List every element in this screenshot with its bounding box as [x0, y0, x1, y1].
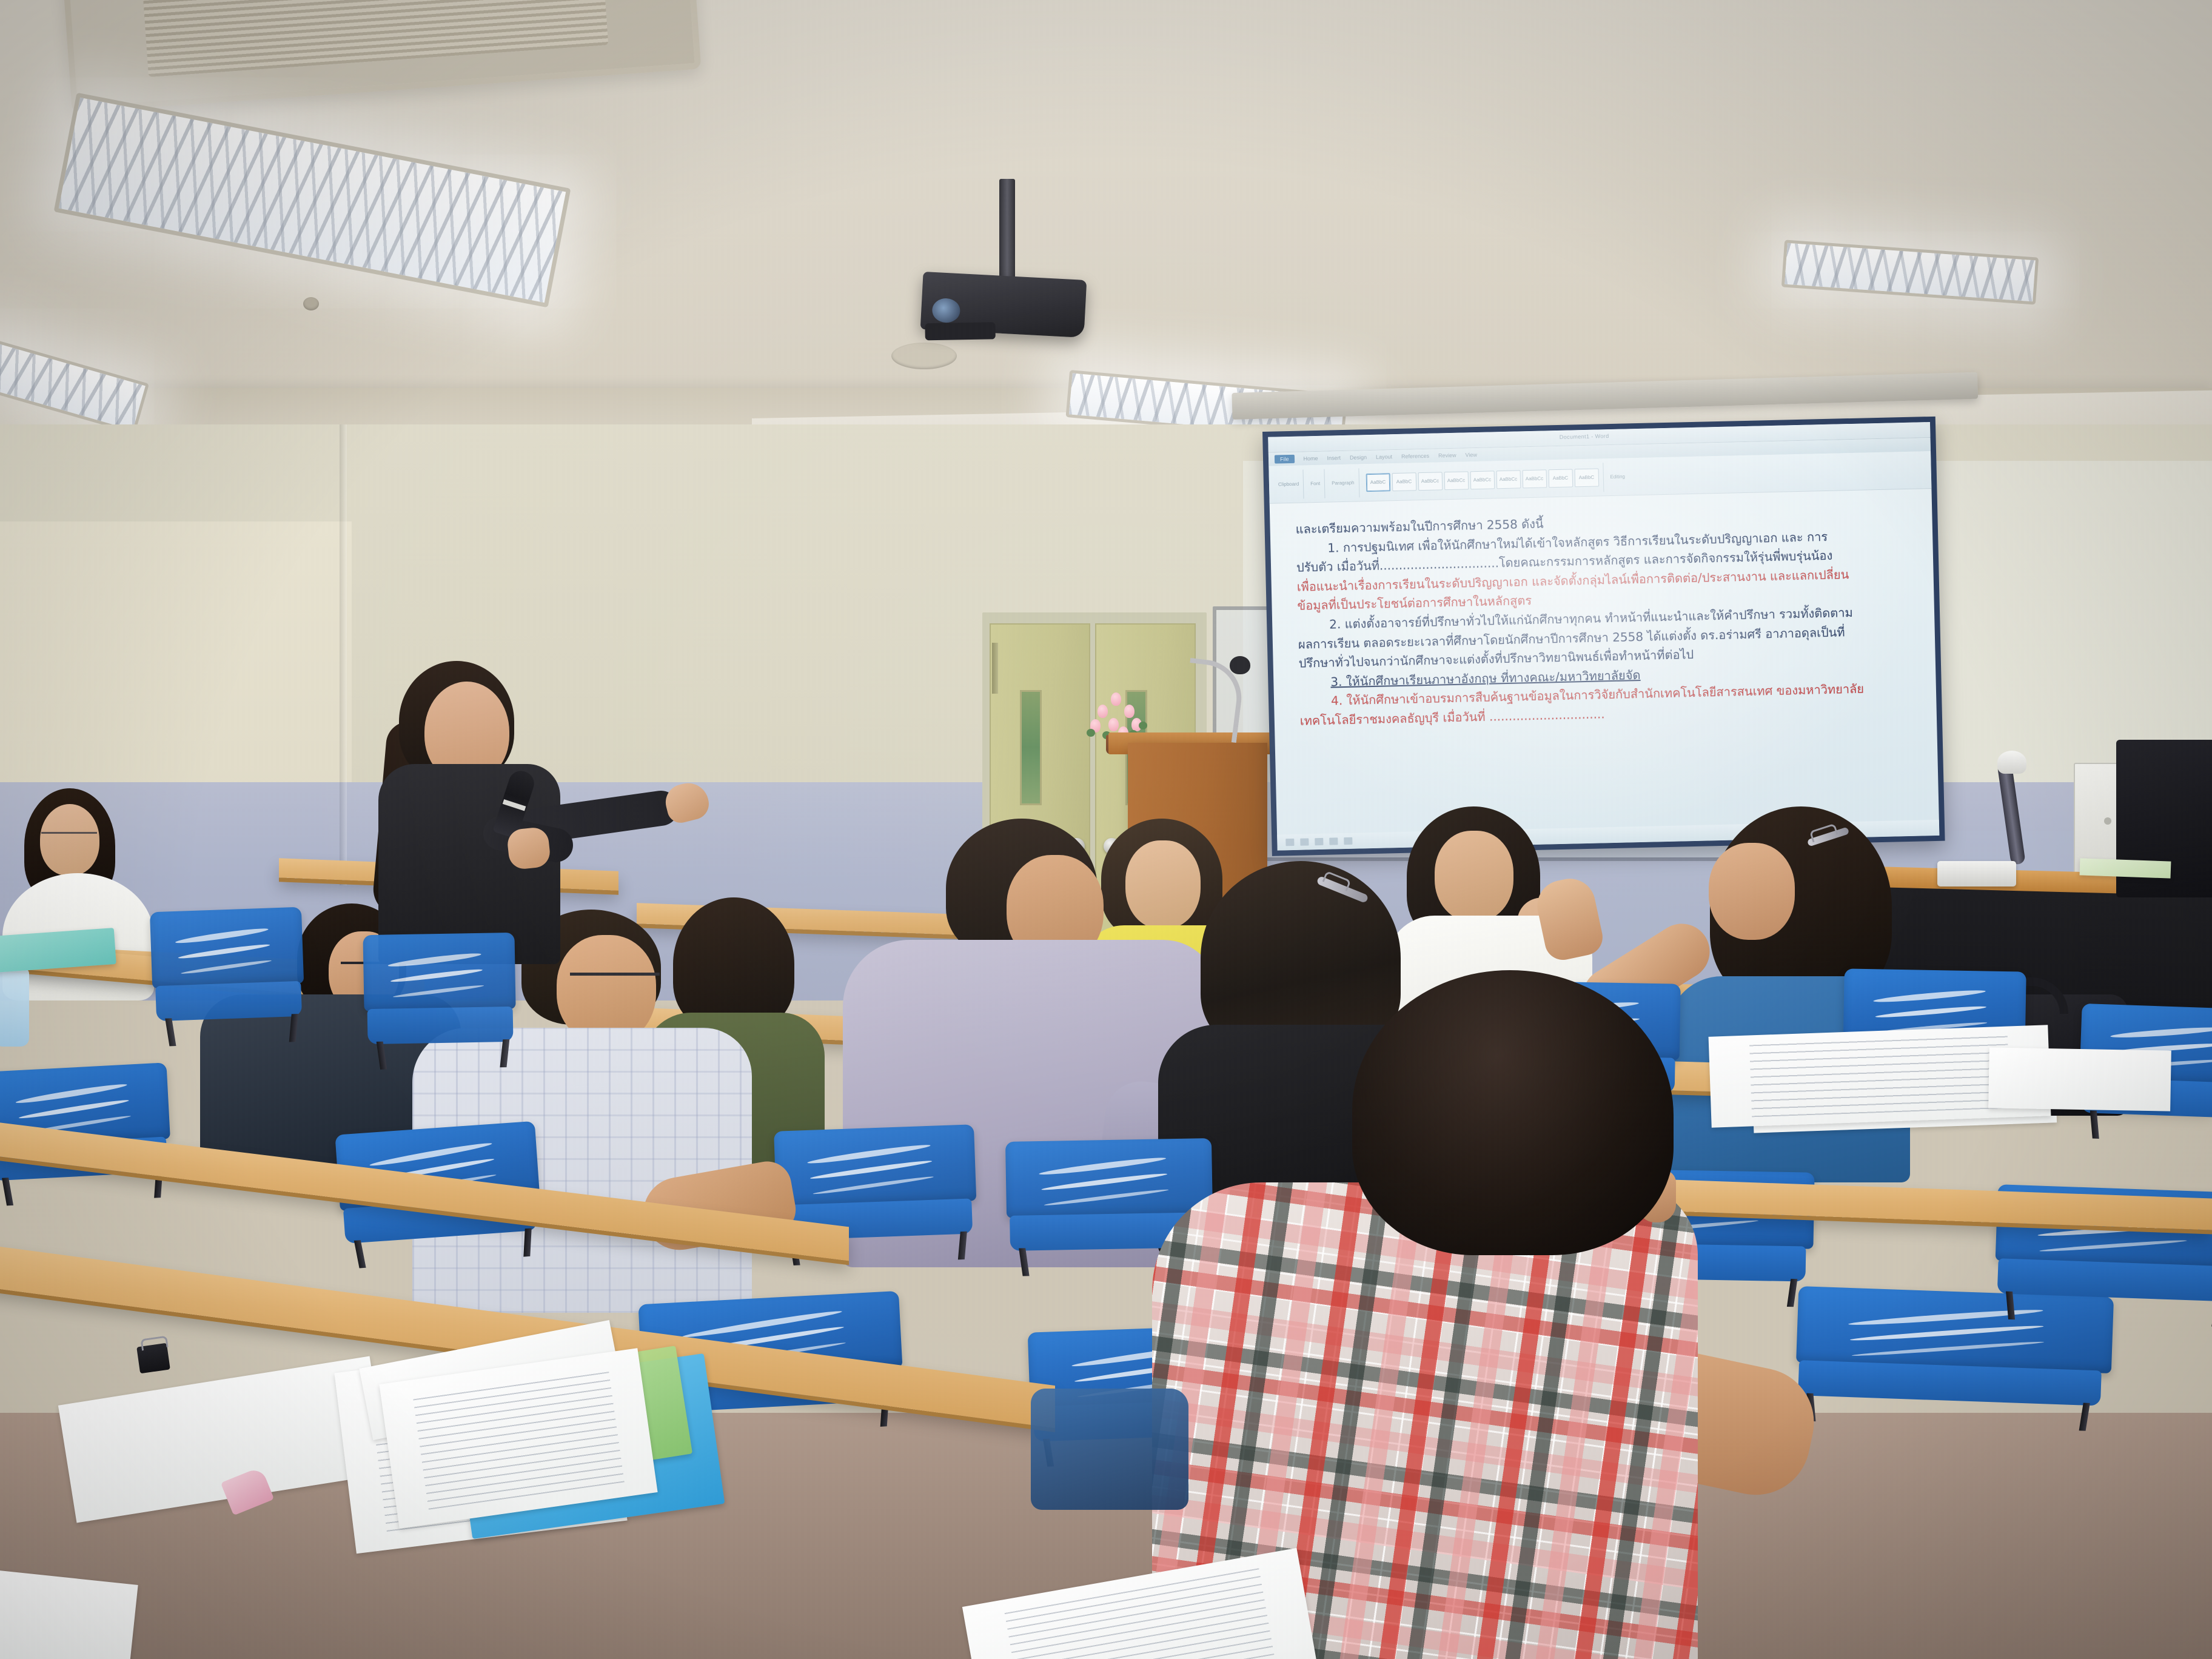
water-bottle: [0, 968, 29, 1047]
tab-review[interactable]: Review: [1438, 452, 1456, 459]
wall-corner-edge: [340, 424, 347, 885]
style-chip[interactable]: AaBbCc: [1522, 469, 1547, 488]
ribbon-group-paragraph[interactable]: Paragraph: [1327, 468, 1359, 498]
projection-screen[interactable]: Document1 - Word File Home Insert Design…: [1262, 417, 1945, 856]
tab-layout[interactable]: Layout: [1376, 454, 1392, 460]
document-camera-base: [1937, 861, 2016, 886]
style-chip[interactable]: AaBbCc: [1496, 470, 1521, 489]
document-camera-icon: [1997, 751, 2026, 774]
style-chip[interactable]: AaBbCc: [1444, 471, 1469, 490]
chair[interactable]: [150, 907, 305, 1022]
chair[interactable]: [363, 933, 516, 1044]
smoke-detector-icon: [891, 343, 957, 369]
style-chip[interactable]: AaBbC: [1392, 472, 1416, 491]
style-chip[interactable]: AaBbC: [1574, 468, 1599, 487]
door-vision-panel: [1020, 690, 1042, 805]
ribbon-group-label: Paragraph: [1332, 480, 1355, 486]
projector-icon: [920, 272, 1087, 338]
ribbon-group-label: Editing: [1610, 474, 1625, 480]
ac-grille: [142, 0, 609, 77]
word-document-title: Document1 - Word: [1560, 433, 1609, 440]
glasses-icon: [41, 832, 97, 842]
binder-clip: [136, 1343, 170, 1374]
ribbon-group-font[interactable]: Font: [1306, 469, 1326, 498]
tab-references[interactable]: References: [1401, 453, 1429, 460]
presenter: [364, 655, 703, 958]
paper-sheet: [1988, 1047, 2171, 1111]
door-hinge: [992, 643, 998, 694]
style-chip[interactable]: AaBbCc: [1470, 471, 1495, 489]
projector-lens: [931, 298, 960, 323]
glasses-icon: [570, 973, 660, 985]
word-document-body[interactable]: และเตรียมความพร้อมในปีการศึกษา 2558 ดังน…: [1270, 490, 1939, 835]
ceiling-fitting: [303, 297, 319, 310]
ribbon-group-styles[interactable]: AaBbC AaBbC AaBbCc AaBbCc AaBbCc AaBbCc …: [1361, 463, 1604, 497]
microphone-head-icon: [1230, 656, 1250, 674]
wall-left-panel: [0, 521, 352, 794]
participant-plaid-shirt: [1152, 970, 1789, 1659]
style-chip[interactable]: AaBbCc: [1418, 472, 1443, 491]
plaid-hair: [1352, 970, 1674, 1255]
backpack: [1031, 1389, 1188, 1510]
tab-file[interactable]: File: [1275, 455, 1295, 464]
ribbon-group-editing[interactable]: Editing: [1606, 462, 1630, 492]
tab-home[interactable]: Home: [1303, 455, 1318, 462]
style-chip[interactable]: AaBbC: [1366, 473, 1390, 492]
tab-view[interactable]: View: [1465, 452, 1477, 458]
paper-sheet: [2080, 858, 2171, 878]
tab-design[interactable]: Design: [1350, 454, 1367, 461]
ribbon-group-label: Clipboard: [1278, 481, 1299, 488]
ribbon-group-clipboard[interactable]: Clipboard: [1273, 469, 1304, 499]
ribbon-group-label: Font: [1310, 481, 1320, 486]
style-chip[interactable]: AaBbC: [1548, 469, 1573, 488]
tab-insert[interactable]: Insert: [1327, 455, 1341, 461]
classroom-photo: Document1 - Word File Home Insert Design…: [0, 0, 2212, 1659]
presenter-mic-hand: [506, 826, 552, 871]
